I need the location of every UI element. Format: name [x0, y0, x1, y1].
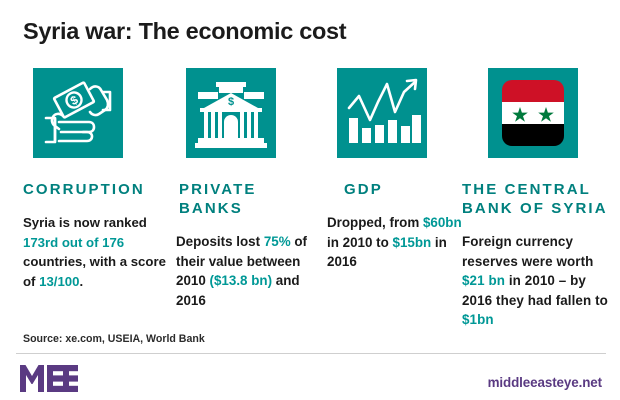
icon-tile-corruption: $	[33, 68, 123, 158]
syria-flag-icon	[488, 68, 578, 158]
footer-divider	[16, 353, 606, 354]
heading-central-bank: THE CENTRAL BANK OF SYRIA	[462, 180, 610, 218]
heading-private-banks: PRIVATE BANKS	[179, 180, 316, 218]
body-gdp: Dropped, from $60bn in 2010 to $15bn in …	[327, 213, 467, 272]
heading-corruption: CORRUPTION	[23, 180, 168, 199]
highlighted-figure: $60bn	[423, 215, 462, 230]
body-text-run: Syria is now ranked	[23, 215, 147, 230]
website-url[interactable]: middleeasteye.net	[488, 375, 602, 390]
highlighted-figure: 13/100	[39, 274, 79, 289]
body-central-bank: Foreign currency reserves were worth $21…	[462, 232, 610, 330]
body-text-run: .	[79, 274, 83, 289]
body-text-run: Deposits lost	[176, 234, 264, 249]
svg-text:$: $	[228, 96, 234, 108]
bribe-hands-money-icon: $	[33, 68, 123, 158]
body-text-run: Dropped, from	[327, 215, 423, 230]
source-note: Source: xe.com, USEIA, World Bank	[23, 333, 205, 345]
body-corruption: Syria is now ranked 173rd out of 176 cou…	[23, 213, 168, 291]
body-text-run: Foreign currency reserves were worth	[462, 234, 593, 269]
column-private-banks: $ PRIVATE BANKS Deposits lost 75% of the…	[176, 68, 316, 310]
icon-tile-private-banks: $	[186, 68, 276, 158]
heading-gdp: GDP	[344, 180, 467, 199]
column-gdp: GDP Dropped, from $60bn in 2010 to $15bn…	[327, 68, 467, 272]
body-private-banks: Deposits lost 75% of their value between…	[176, 232, 316, 310]
highlighted-figure: ($13.8 bn)	[210, 273, 273, 288]
body-text-run: in 2010 to	[327, 235, 393, 250]
mee-logo-icon	[20, 365, 80, 393]
column-central-bank: THE CENTRAL BANK OF SYRIA Foreign curren…	[462, 68, 610, 330]
column-corruption: $ CORRUPTION Syria is now ranked 173rd o…	[23, 68, 168, 291]
highlighted-figure: $15bn	[393, 235, 432, 250]
highlighted-figure: $21 bn	[462, 273, 505, 288]
page-title: Syria war: The economic cost	[23, 18, 346, 45]
highlighted-figure: $1bn	[462, 312, 494, 327]
bar-chart-growth-icon	[337, 68, 427, 158]
bank-building-icon: $	[186, 68, 276, 158]
mee-logo[interactable]	[20, 365, 80, 393]
icon-tile-central-bank	[488, 68, 578, 158]
highlighted-figure: 173rd out of 176	[23, 235, 124, 250]
icon-tile-gdp	[337, 68, 427, 158]
highlighted-figure: 75%	[264, 234, 291, 249]
